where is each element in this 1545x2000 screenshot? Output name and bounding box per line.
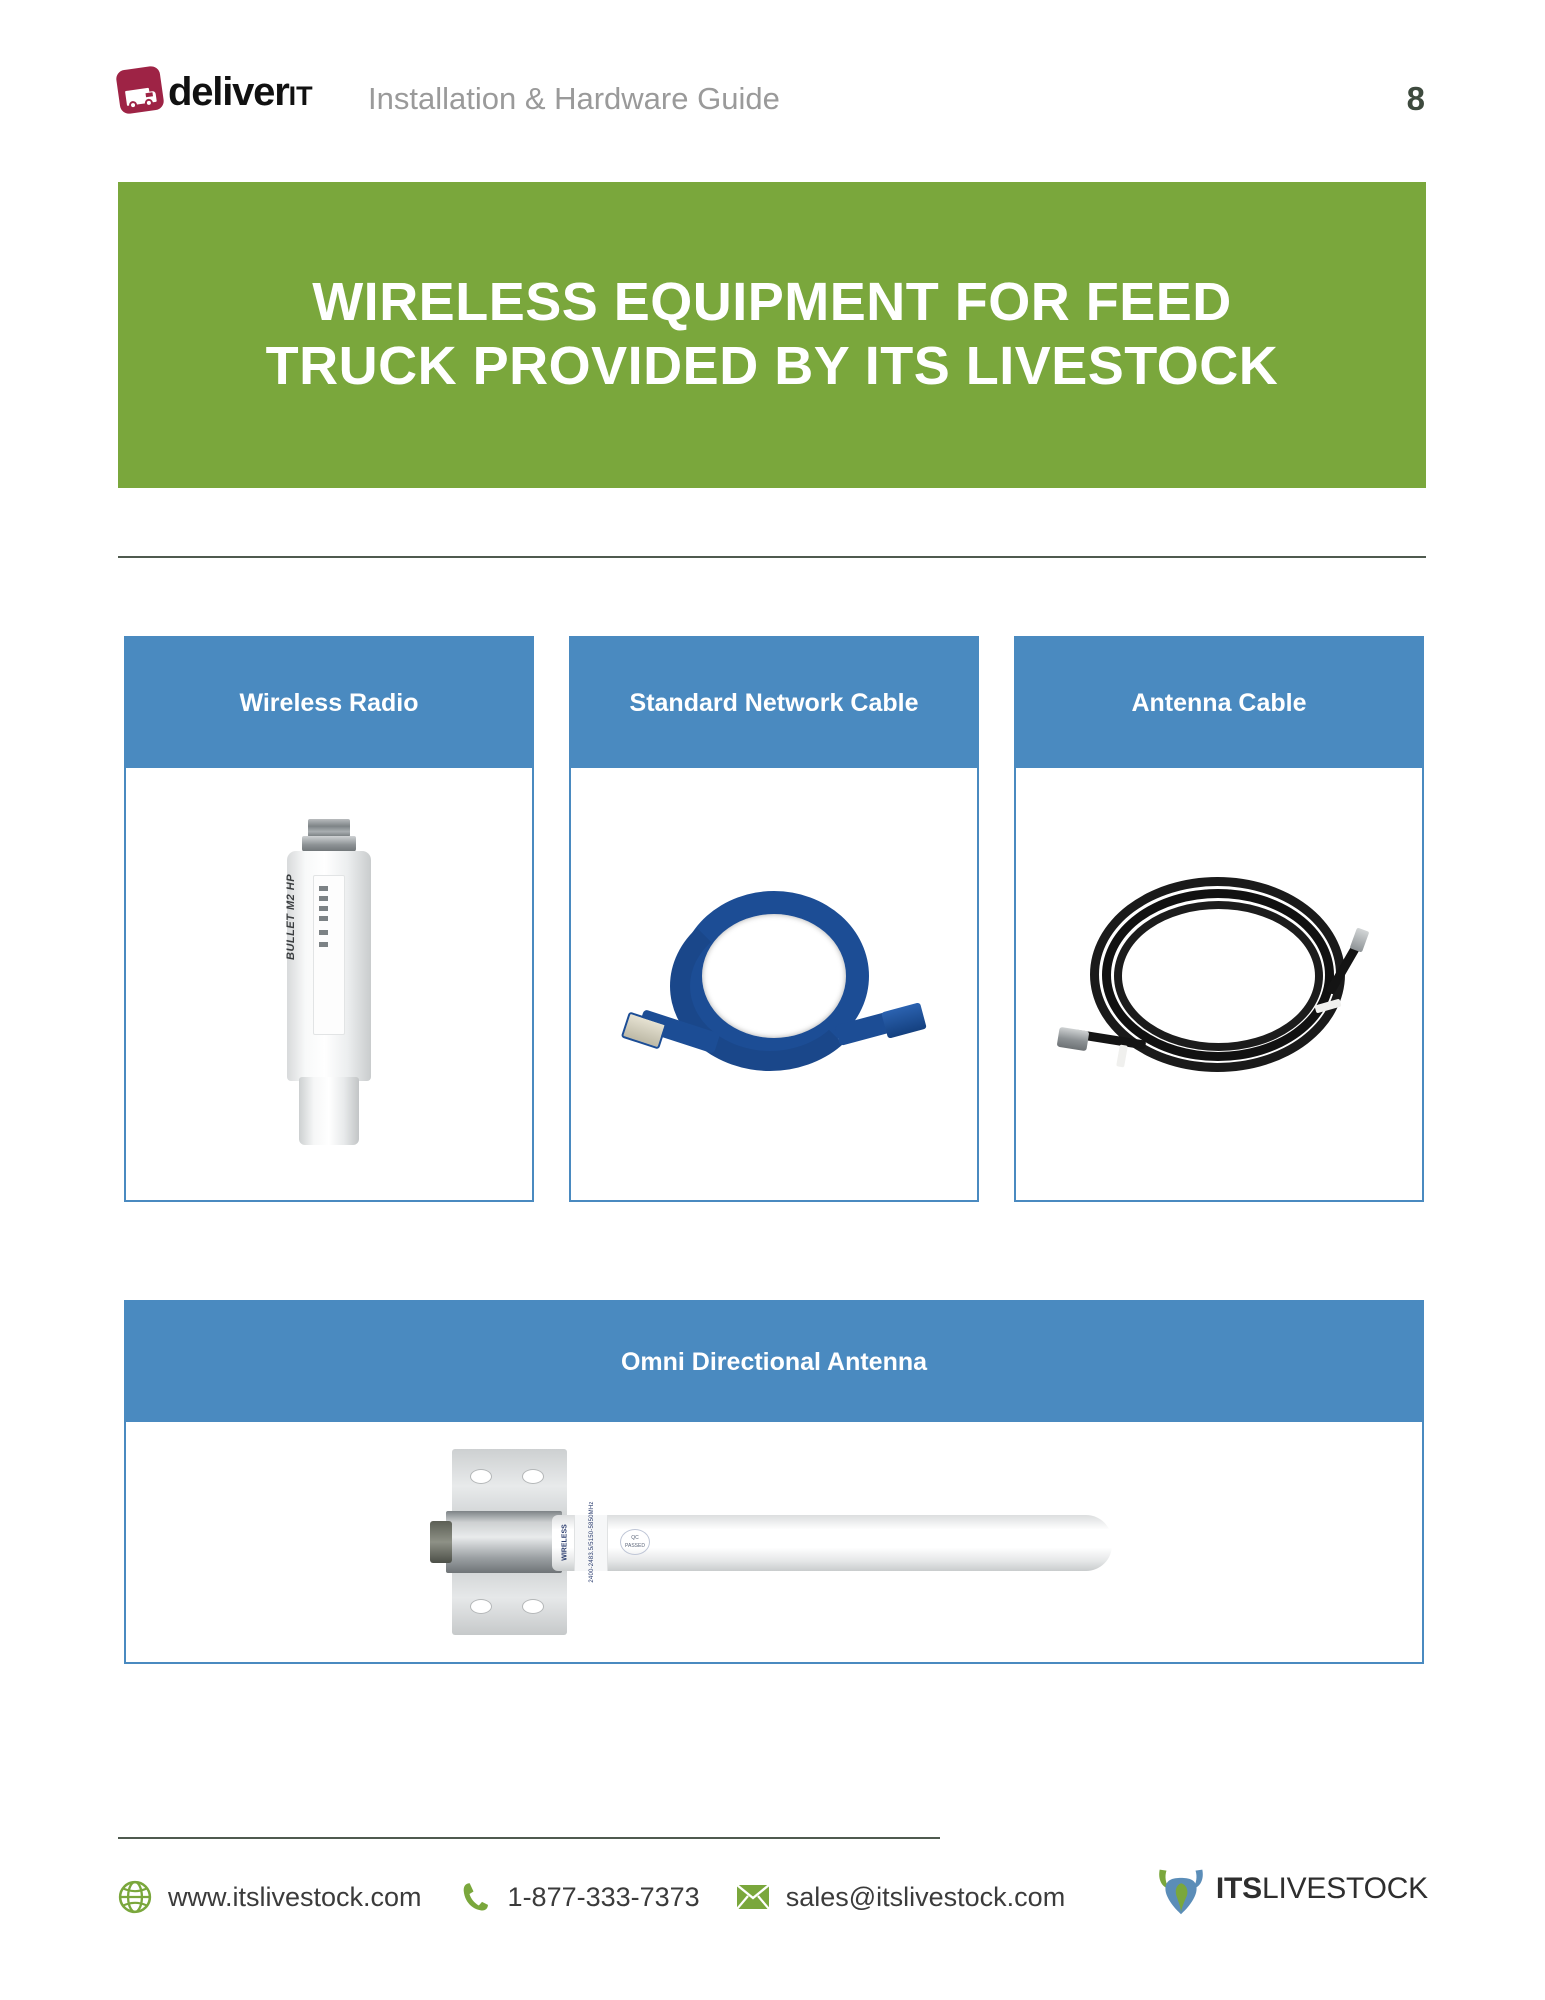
card-title: Antenna Cable xyxy=(1131,687,1306,720)
equipment-card-wireless-radio: Wireless Radio BULLET M2 HP xyxy=(124,636,534,1202)
footer-email-text: sales@itslivestock.com xyxy=(786,1882,1065,1913)
card-header: Omni Directional Antenna xyxy=(126,1302,1422,1422)
radio-led-panel xyxy=(313,875,345,1035)
cable-tie xyxy=(1116,1044,1128,1067)
footer-email[interactable]: sales@itslivestock.com xyxy=(736,1880,1065,1914)
n-type-connector-icon xyxy=(308,819,350,837)
antenna-connector-icon xyxy=(430,1521,452,1563)
equipment-card-row: Wireless Radio BULLET M2 HP xyxy=(124,636,1424,1202)
footer-phone[interactable]: 1-877-333-7373 xyxy=(458,1880,700,1914)
connector-collar xyxy=(302,836,356,852)
delivery-truck-icon xyxy=(115,65,165,115)
equipment-card-antenna-cable: Antenna Cable xyxy=(1014,636,1424,1202)
guide-title: Installation & Hardware Guide xyxy=(368,81,780,117)
envelope-icon xyxy=(736,1880,770,1914)
itslivestock-logo: ITSLIVESTOCK xyxy=(1150,1858,1428,1920)
omni-directional-antenna-photo: 2400-2483.5/5150-5850MHz WIRELESS QC PAS… xyxy=(424,1449,1124,1635)
card-title: Standard Network Cable xyxy=(630,687,919,720)
card-image-area: BULLET M2 HP xyxy=(126,768,532,1200)
antenna-cable-photo xyxy=(1054,869,1384,1099)
bracket-clamp xyxy=(446,1511,562,1573)
card-image-area: 2400-2483.5/5150-5850MHz WIRELESS QC PAS… xyxy=(126,1422,1422,1662)
page-header: deliverIT Installation & Hardware Guide … xyxy=(0,0,1545,150)
section-banner: WIRELESS EQUIPMENT FOR FEED TRUCK PROVID… xyxy=(118,182,1426,488)
card-header: Standard Network Cable xyxy=(571,638,977,768)
network-cable-photo xyxy=(624,879,924,1089)
equipment-card-omni-antenna: Omni Directional Antenna 2400-2483.5/515… xyxy=(124,1300,1424,1664)
sma-connector-icon xyxy=(1350,927,1370,952)
radio-brand-label: BULLET M2 HP xyxy=(285,882,297,960)
logo-wordmark: deliverIT xyxy=(168,72,313,112)
globe-icon xyxy=(118,1880,152,1914)
card-title: Wireless Radio xyxy=(239,687,418,720)
page-footer: www.itslivestock.com 1-877-333-7373 sale… xyxy=(118,1862,1428,1932)
card-image-area xyxy=(571,768,977,1200)
antenna-brand-mark: WIRELESS xyxy=(554,1519,576,1569)
phone-icon xyxy=(458,1880,492,1914)
itslivestock-wordmark-light: LIVESTOCK xyxy=(1262,1872,1428,1905)
section-banner-title: WIRELESS EQUIPMENT FOR FEED TRUCK PROVID… xyxy=(242,271,1302,398)
n-male-connector-icon xyxy=(1057,1027,1090,1051)
logo-wordmark-main: deliver xyxy=(168,70,289,114)
itslivestock-wordmark-bold: ITS xyxy=(1216,1872,1262,1905)
card-header: Wireless Radio xyxy=(126,638,532,768)
rj45-connector-icon xyxy=(881,1002,927,1038)
footer-divider xyxy=(118,1837,940,1839)
antenna-spec-label: 2400-2483.5/5150-5850MHz xyxy=(574,1515,608,1571)
qc-stamp: QC PASSED xyxy=(620,1529,650,1555)
footer-website-text: www.itslivestock.com xyxy=(168,1882,422,1913)
logo-wordmark-suffix: IT xyxy=(289,81,313,111)
equipment-card-network-cable: Standard Network Cable xyxy=(569,636,979,1202)
card-image-area xyxy=(1016,768,1422,1200)
bull-head-icon xyxy=(1150,1858,1212,1920)
card-title: Omni Directional Antenna xyxy=(621,1346,927,1379)
antenna-spec-label-text: 2400-2483.5/5150-5850MHz xyxy=(589,1499,595,1585)
antenna-brand-text: WIRELESS xyxy=(562,1520,569,1566)
deliverit-logo: deliverIT xyxy=(118,68,313,112)
page-number: 8 xyxy=(1407,80,1425,118)
wireless-radio-photo: BULLET M2 HP xyxy=(274,819,384,1149)
footer-phone-text: 1-877-333-7373 xyxy=(508,1882,700,1913)
top-divider xyxy=(118,556,1426,558)
card-header: Antenna Cable xyxy=(1016,638,1422,768)
document-page: deliverIT Installation & Hardware Guide … xyxy=(0,0,1545,2000)
footer-website[interactable]: www.itslivestock.com xyxy=(118,1880,422,1914)
itslivestock-wordmark: ITSLIVESTOCK xyxy=(1216,1872,1428,1906)
radio-base xyxy=(299,1077,359,1145)
